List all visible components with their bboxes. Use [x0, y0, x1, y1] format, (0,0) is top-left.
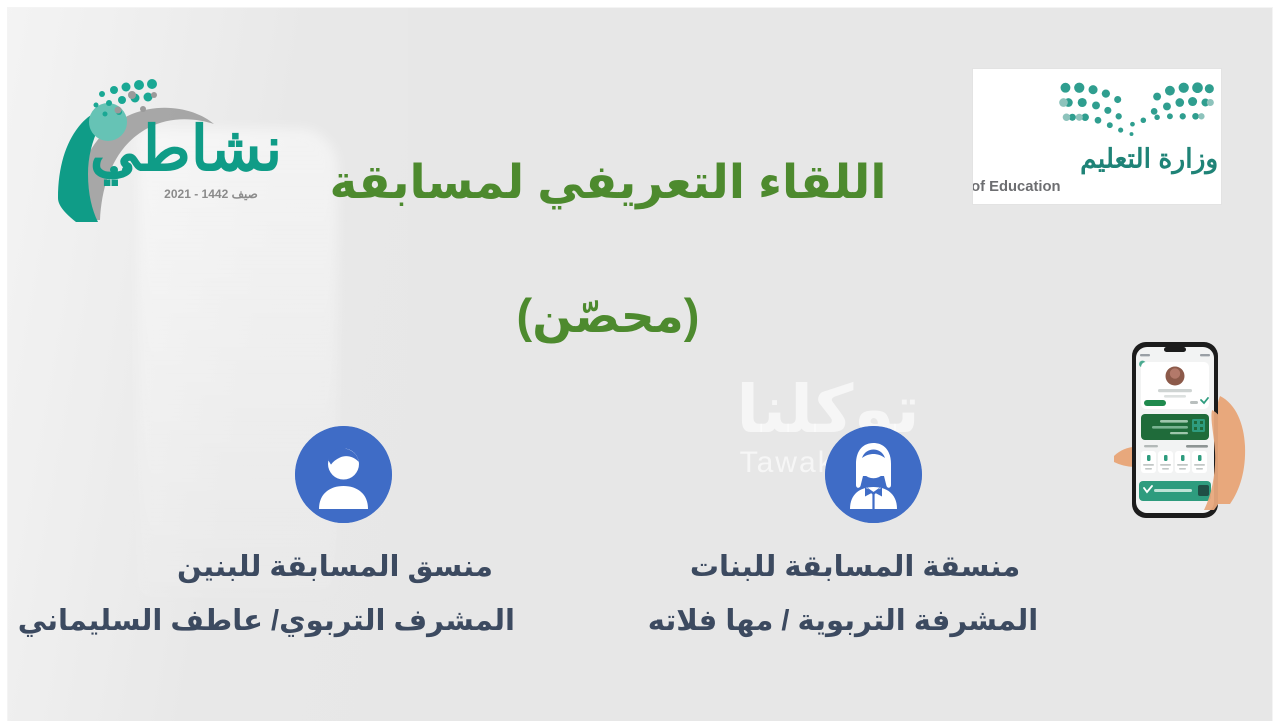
coordinator-boys: منسق المسابقة للبنين المشرف التربوي/ عاط… [143, 426, 543, 648]
coordinator-boys-name: المشرف التربوي/ عاطف السليماني [115, 595, 515, 649]
coordinator-girls-role: منسقة المسابقة للبنات [655, 541, 1055, 595]
svg-text:وزارة التعليم: وزارة التعليم [1080, 144, 1218, 176]
hand-holding-phone-icon [1108, 338, 1272, 528]
female-avatar-icon [825, 426, 922, 523]
ministry-of-education-logo: وزارة التعليم Ministry of Education [972, 68, 1222, 205]
coordinator-girls-name: المشرفة التربوية / مها فلاته [643, 595, 1043, 649]
title-line-1: اللقاء التعريفي لمسابقة [228, 148, 988, 216]
slide-canvas: توكلنا Tawakkalna [8, 8, 1272, 721]
slide-title: اللقاء التعريفي لمسابقة (محصّن) [228, 148, 988, 350]
male-avatar-icon [295, 426, 392, 523]
title-line-2: (محصّن) [228, 282, 988, 350]
coordinators-row: منسق المسابقة للبنين المشرف التربوي/ عاط… [98, 426, 1118, 648]
coordinator-boys-role: منسق المسابقة للبنين [135, 541, 535, 595]
coordinator-girls: منسقة المسابقة للبنات المشرفة التربوية /… [673, 426, 1073, 648]
slide-root: توكلنا Tawakkalna [0, 0, 1280, 721]
